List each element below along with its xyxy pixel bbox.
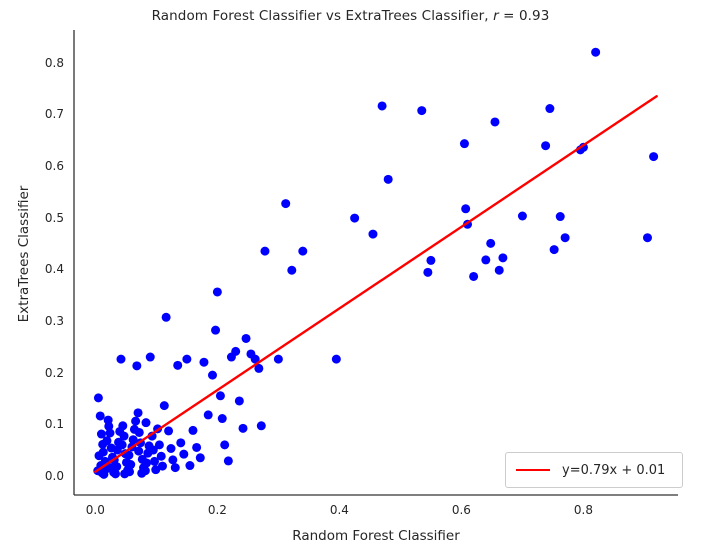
y-tick-label: 0.7 <box>24 107 64 121</box>
data-point <box>461 204 470 213</box>
data-point <box>168 455 177 464</box>
data-point <box>131 417 140 426</box>
data-point <box>239 424 248 433</box>
data-point <box>231 347 240 356</box>
data-point <box>126 460 135 469</box>
data-point <box>155 440 164 449</box>
x-axis-label: Random Forest Classifier <box>74 528 678 544</box>
data-point <box>211 326 220 335</box>
x-tick-label: 0.2 <box>197 503 237 517</box>
data-point <box>649 152 658 161</box>
data-point <box>235 396 244 405</box>
data-point <box>208 371 217 380</box>
x-tick-label: 0.4 <box>319 503 359 517</box>
data-point <box>134 408 143 417</box>
data-point <box>173 361 182 370</box>
data-point <box>162 313 171 322</box>
data-point <box>141 466 150 475</box>
data-point <box>188 426 197 435</box>
data-point <box>118 421 127 430</box>
data-point <box>106 429 115 438</box>
data-point <box>518 212 527 221</box>
data-point <box>460 139 469 148</box>
data-point <box>495 266 504 275</box>
data-point <box>118 440 127 449</box>
data-point <box>99 448 108 457</box>
data-point <box>182 355 191 364</box>
legend-line-swatch <box>516 469 550 471</box>
data-point <box>541 141 550 150</box>
x-tick-label: 0.6 <box>441 503 481 517</box>
data-point <box>141 418 150 427</box>
data-points-layer <box>93 48 658 479</box>
data-point <box>116 355 125 364</box>
data-point <box>490 117 499 126</box>
y-tick-label: 0.0 <box>24 469 64 483</box>
data-point <box>167 444 176 453</box>
data-point <box>220 440 229 449</box>
legend: y=0.79x + 0.01 <box>505 452 683 488</box>
y-tick-label: 0.1 <box>24 417 64 431</box>
data-point <box>185 461 194 470</box>
data-point <box>643 233 652 242</box>
data-point <box>556 212 565 221</box>
data-point <box>120 432 129 441</box>
data-point <box>257 421 266 430</box>
data-point <box>417 106 426 115</box>
data-point <box>260 247 269 256</box>
data-point <box>196 453 205 462</box>
data-point <box>94 393 103 402</box>
data-point <box>216 391 225 400</box>
data-point <box>486 239 495 248</box>
data-point <box>104 416 113 425</box>
data-point <box>550 245 559 254</box>
data-point <box>242 334 251 343</box>
data-point <box>498 253 507 262</box>
y-tick-label: 0.2 <box>24 366 64 380</box>
data-point <box>213 287 222 296</box>
data-point <box>218 414 227 423</box>
data-point <box>176 438 185 447</box>
data-point <box>199 358 208 367</box>
data-point <box>157 452 166 461</box>
data-point <box>274 355 283 364</box>
data-point <box>384 175 393 184</box>
data-point <box>287 266 296 275</box>
data-point <box>426 256 435 265</box>
data-point <box>481 255 490 264</box>
data-point <box>204 410 213 419</box>
data-point <box>224 456 233 465</box>
data-point <box>142 458 151 467</box>
data-point <box>469 272 478 281</box>
data-point <box>158 462 167 471</box>
legend-label: y=0.79x + 0.01 <box>562 463 665 478</box>
data-point <box>164 426 173 435</box>
data-point <box>545 104 554 113</box>
data-point <box>135 428 144 437</box>
data-point <box>423 268 432 277</box>
data-point <box>192 443 201 452</box>
y-tick-label: 0.8 <box>24 56 64 70</box>
data-point <box>160 401 169 410</box>
data-point <box>591 48 600 57</box>
data-point <box>171 463 180 472</box>
data-point <box>350 214 359 223</box>
data-point <box>368 230 377 239</box>
data-point <box>132 361 141 370</box>
data-point <box>134 447 143 456</box>
data-point <box>281 199 290 208</box>
y-axis-label: ExtraTrees Classifier <box>16 144 32 364</box>
data-point <box>332 355 341 364</box>
x-tick-label: 0.8 <box>563 503 603 517</box>
data-point <box>561 233 570 242</box>
data-point <box>298 247 307 256</box>
data-point <box>146 353 155 362</box>
data-point <box>179 450 188 459</box>
x-tick-label: 0.0 <box>75 503 115 517</box>
regression-line <box>95 96 656 472</box>
scatter-plot-figure: Random Forest Classifier vs ExtraTrees C… <box>0 0 701 558</box>
data-point <box>96 411 105 420</box>
data-point <box>378 101 387 110</box>
regression-line-layer <box>95 96 656 472</box>
